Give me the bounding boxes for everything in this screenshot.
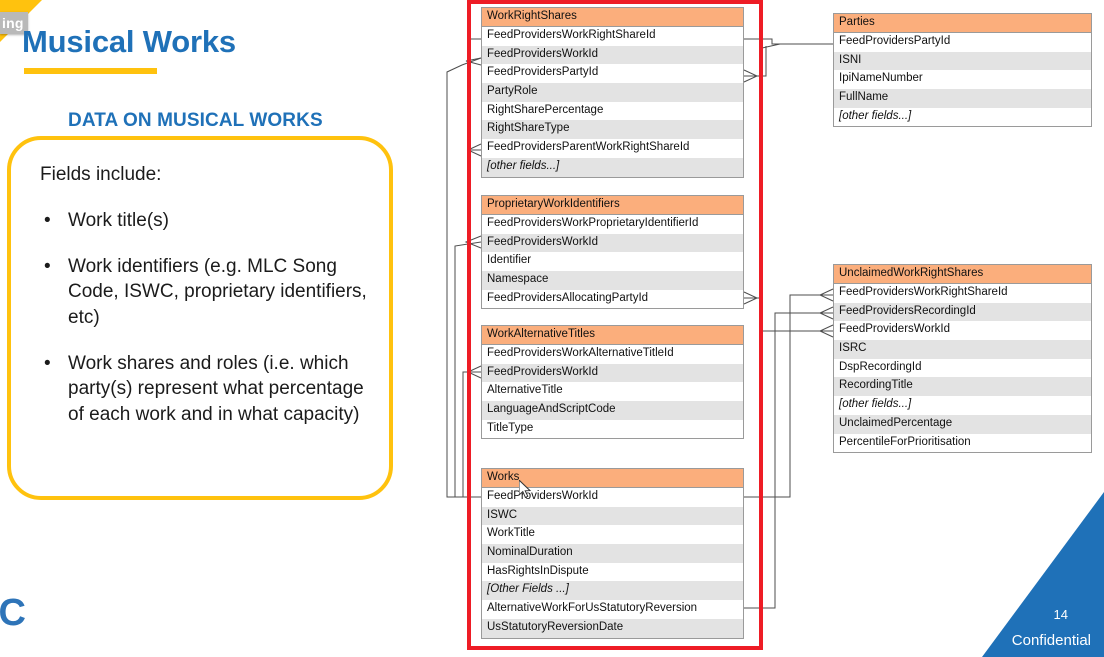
list-item: •Work identifiers (e.g. MLC Song Code, I… — [40, 254, 380, 331]
entity-field: UnclaimedPercentage — [834, 415, 1091, 434]
callout-label: DATA ON MUSICAL WORKS — [56, 110, 335, 132]
list-item: •Work shares and roles (i.e. which party… — [40, 351, 380, 428]
entity-field: FeedProvidersWorkRightShareId — [834, 284, 1091, 303]
list-item-label: Work shares and roles (i.e. which party(… — [68, 353, 364, 425]
entity-field: IpiNameNumber — [834, 70, 1091, 89]
entity-field: PercentileForPrioritisation — [834, 434, 1091, 453]
entity-header: WorkRightShares — [482, 8, 743, 27]
entity-field: LanguageAndScriptCode — [482, 401, 743, 420]
bullet-dot-icon: • — [44, 351, 51, 377]
entity-field: FullName — [834, 89, 1091, 108]
entity-field: FeedProvidersPartyId — [834, 33, 1091, 52]
entity-field: PartyRole — [482, 83, 743, 102]
entity-field: ISWC — [482, 507, 743, 526]
entity-field-other: [other fields...] — [834, 396, 1091, 415]
mouse-cursor-icon — [519, 480, 533, 500]
entity-field: FeedProvidersWorkProprietaryIdentifierId — [482, 215, 743, 234]
entity-field: ISRC — [834, 340, 1091, 359]
entity-field: FeedProvidersWorkRightShareId — [482, 27, 743, 46]
entity-field: FeedProvidersWorkId — [834, 321, 1091, 340]
entity-field: RightSharePercentage — [482, 102, 743, 121]
entity-field: TitleType — [482, 420, 743, 439]
entity-field: AlternativeTitle — [482, 382, 743, 401]
entity-parties[interactable]: Parties FeedProvidersPartyId ISNI IpiNam… — [833, 13, 1092, 127]
bullet-dot-icon: • — [44, 208, 51, 234]
entity-header: Parties — [834, 14, 1091, 33]
entity-field-other: [other fields...] — [834, 108, 1091, 127]
entity-field-other: [Other Fields ...] — [482, 581, 743, 600]
entity-field: FeedProvidersPartyId — [482, 64, 743, 83]
entity-field: WorkTitle — [482, 525, 743, 544]
entity-field: RightShareType — [482, 120, 743, 139]
entity-field: FeedProvidersWorkId — [482, 364, 743, 383]
entity-workalternativetitles[interactable]: WorkAlternativeTitles FeedProvidersWorkA… — [481, 325, 744, 439]
entity-field: AlternativeWorkForUsStatutoryReversion — [482, 600, 743, 619]
entity-field: DspRecordingId — [834, 359, 1091, 378]
entity-field: NominalDuration — [482, 544, 743, 563]
entity-field: UsStatutoryReversionDate — [482, 619, 743, 638]
fields-include-label: Fields include: — [40, 164, 380, 186]
list-item-label: Work identifiers (e.g. MLC Song Code, IS… — [68, 256, 367, 328]
entity-field: FeedProvidersAllocatingPartyId — [482, 290, 743, 309]
entity-field: HasRightsInDispute — [482, 563, 743, 582]
list-item-label: Work title(s) — [68, 210, 169, 231]
entity-field: FeedProvidersWorkId — [482, 234, 743, 253]
entity-field: Identifier — [482, 252, 743, 271]
entity-field: Namespace — [482, 271, 743, 290]
list-item: •Work title(s) — [40, 208, 380, 234]
slide-canvas: ing 14 Confidential Musical Works DATA O… — [0, 0, 1104, 657]
fields-bullet-list: •Work title(s) •Work identifiers (e.g. M… — [40, 208, 380, 427]
entity-field: FeedProvidersParentWorkRightShareId — [482, 139, 743, 158]
entity-field: ISNI — [834, 52, 1091, 71]
entity-field: FeedProvidersWorkId — [482, 46, 743, 65]
entity-unclaimedworkrightshares[interactable]: UnclaimedWorkRightShares FeedProvidersWo… — [833, 264, 1092, 453]
entity-workrightshares[interactable]: WorkRightShares FeedProvidersWorkRightSh… — [481, 7, 744, 178]
entity-proprietaryworkidentifiers[interactable]: ProprietaryWorkIdentifiers FeedProviders… — [481, 195, 744, 309]
entity-field: FeedProvidersRecordingId — [834, 303, 1091, 322]
callout-body: Fields include: •Work title(s) •Work ide… — [40, 164, 380, 447]
entity-header: ProprietaryWorkIdentifiers — [482, 196, 743, 215]
entity-field-other: [other fields...] — [482, 158, 743, 177]
entity-header: WorkAlternativeTitles — [482, 326, 743, 345]
entity-field: RecordingTitle — [834, 377, 1091, 396]
bullet-dot-icon: • — [44, 254, 51, 280]
entity-field: FeedProvidersWorkAlternativeTitleId — [482, 345, 743, 364]
entity-header: UnclaimedWorkRightShares — [834, 265, 1091, 284]
